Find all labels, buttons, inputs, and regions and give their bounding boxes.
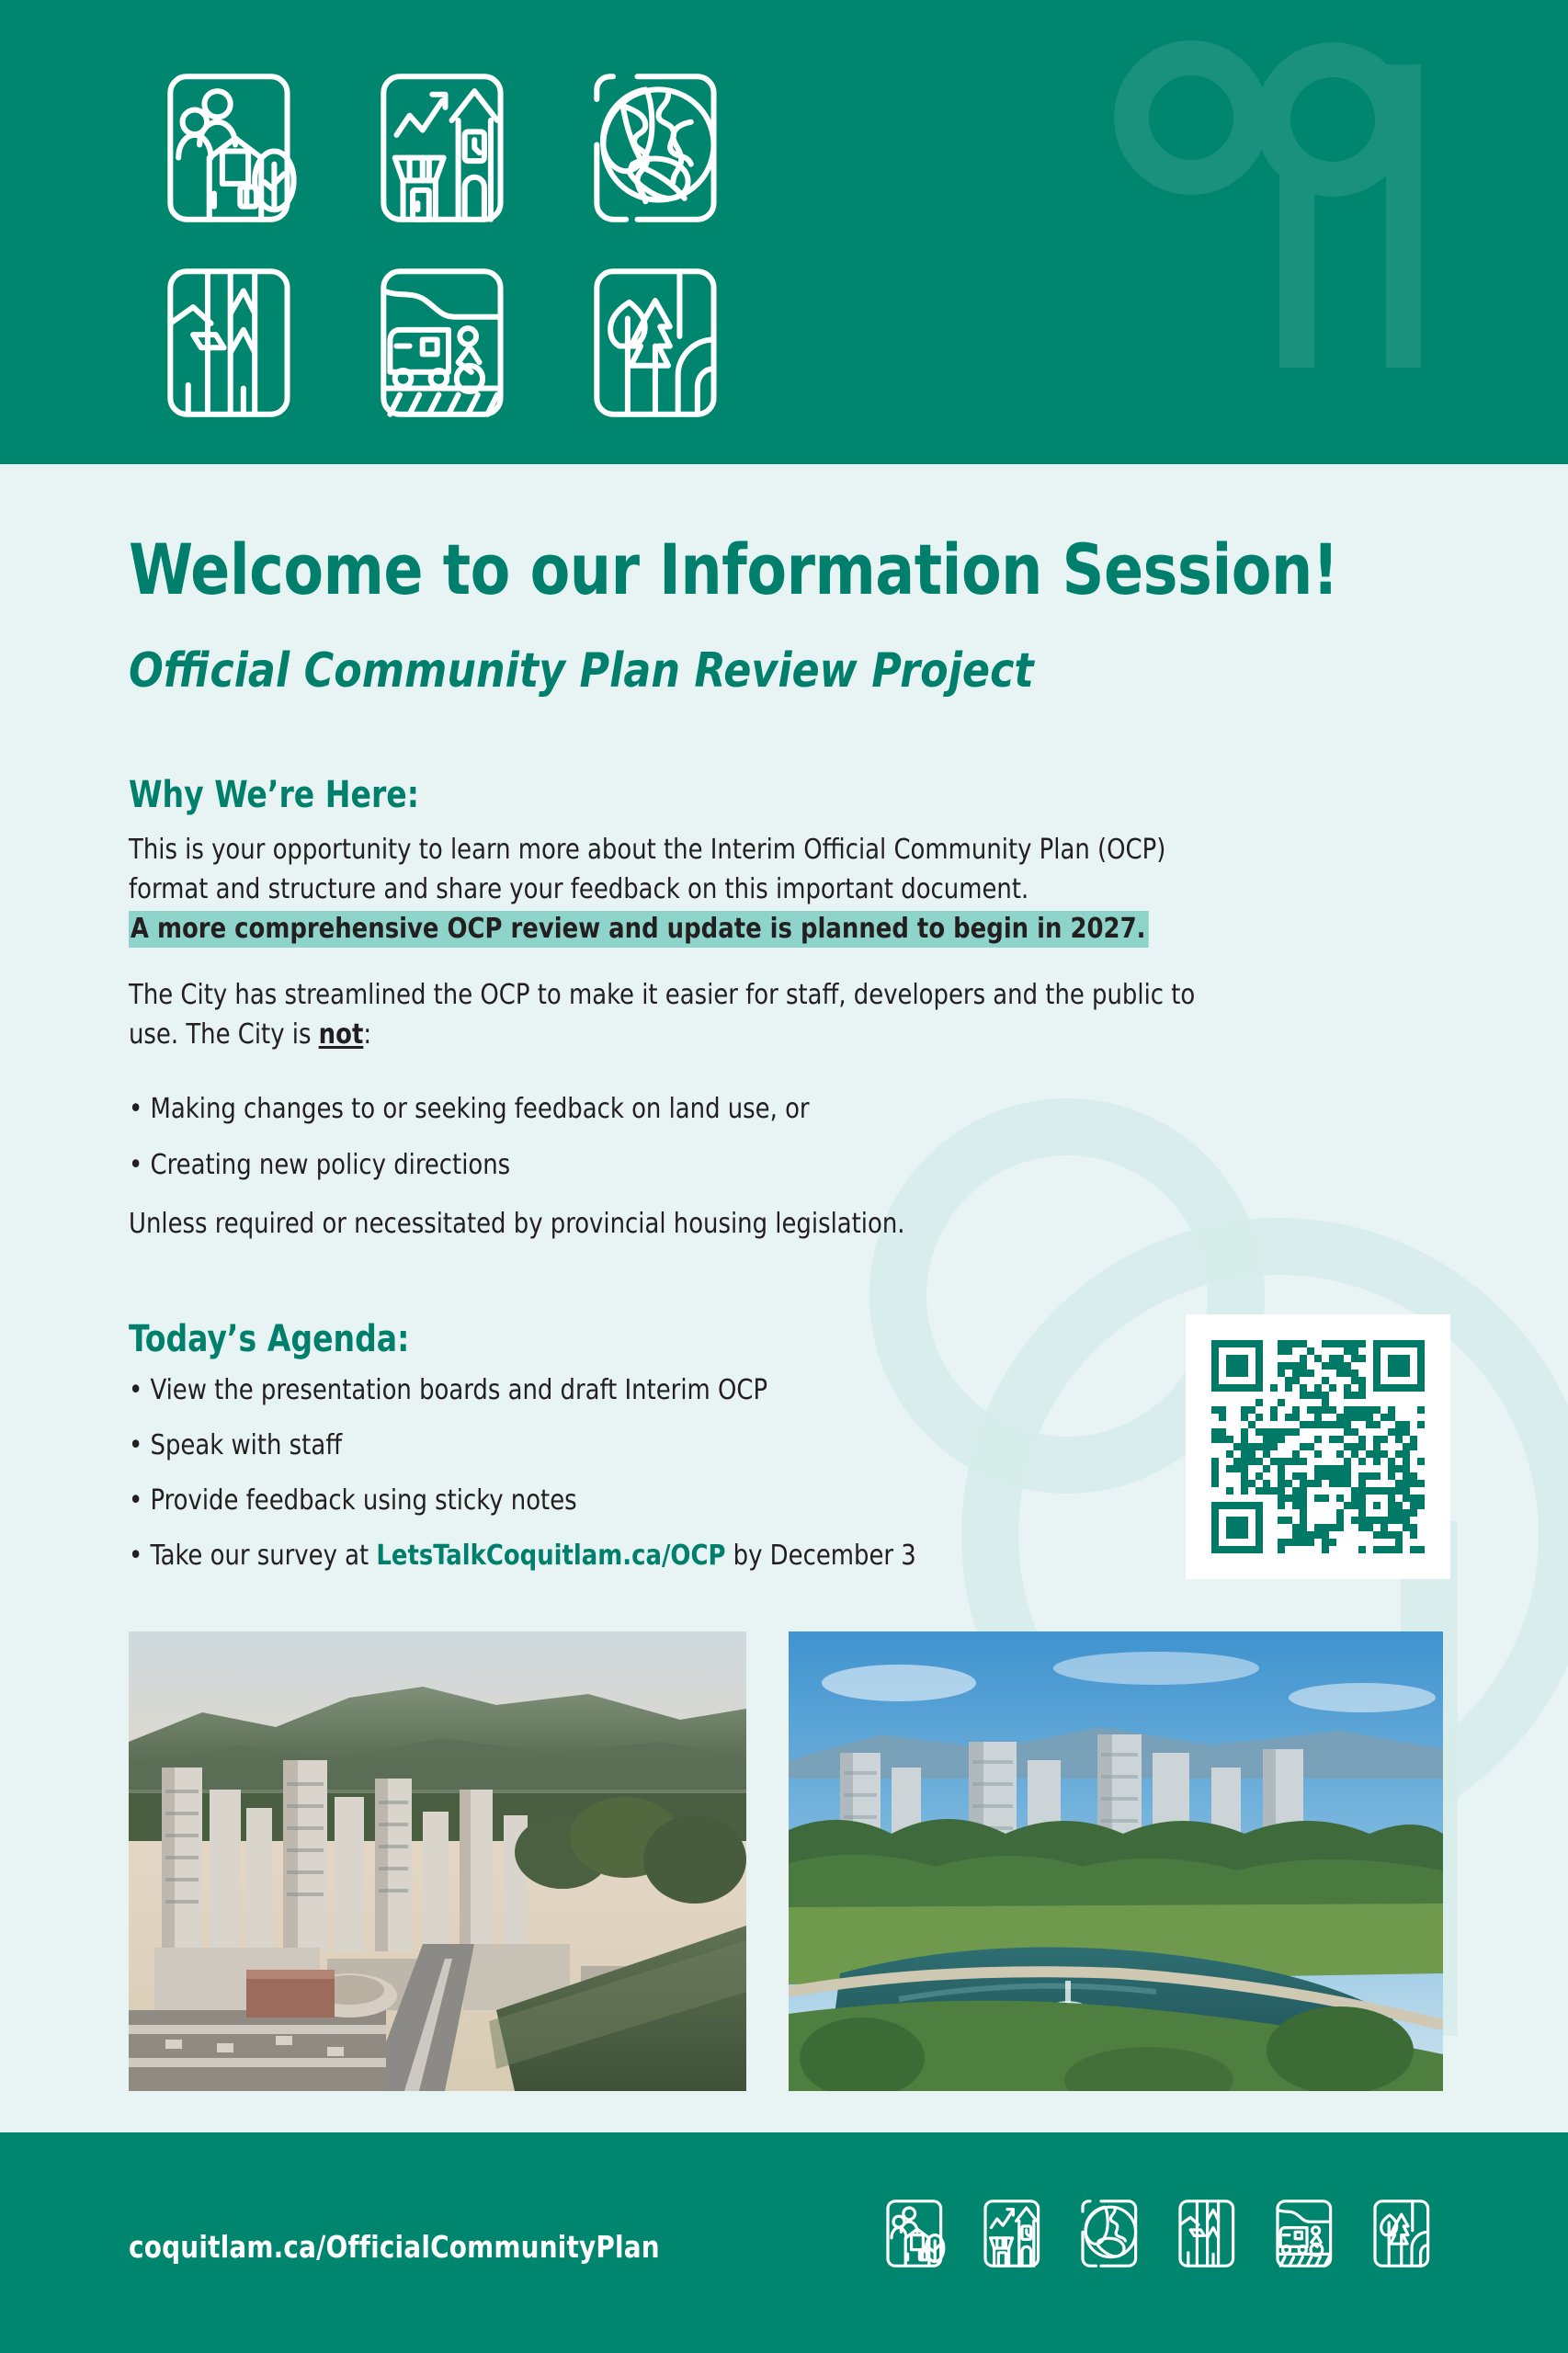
- list-item: • Provide feedback using sticky notes: [129, 1481, 1346, 1520]
- why-bullet-list: • Making changes to or seeking feedback …: [129, 1089, 1346, 1201]
- why-closing-text: Unless required or necessitated by provi…: [129, 1204, 1346, 1244]
- survey-suffix: by December 3: [725, 1540, 915, 1572]
- transit-bus-cyclist-icon: [342, 245, 555, 440]
- map-roads-icon: [1165, 2189, 1254, 2278]
- poster: Welcome to our Information Session! Offi…: [0, 0, 1568, 2353]
- ocp-watermark: [1083, 9, 1469, 414]
- shop-clocktower-growth-icon: [971, 2189, 1059, 2278]
- agenda-heading: Today’s Agenda:: [129, 1317, 409, 1361]
- shop-clocktower-growth-icon: [342, 51, 555, 245]
- page-title: Welcome to our Information Session!: [129, 530, 1338, 609]
- globe-leaves-icon: [555, 51, 768, 245]
- page-subtitle: Official Community Plan Review Project: [129, 643, 1034, 699]
- footer-icon-row: [873, 2189, 1449, 2278]
- header-band: [0, 0, 1568, 464]
- content-area: Welcome to our Information Session! Offi…: [0, 464, 1568, 2132]
- list-item: • Speak with staff: [129, 1426, 1346, 1465]
- forest-trees-trail-icon: [1360, 2189, 1449, 2278]
- why-para-line-1: This is your opportunity to learn more a…: [129, 830, 1346, 870]
- emphasis-not: not: [319, 1018, 364, 1051]
- survey-prefix: • Take our survey at: [129, 1540, 376, 1572]
- survey-link[interactable]: LetsTalkCoquitlam.ca/OCP: [376, 1540, 725, 1572]
- aerial-lafarge-lake-photo: [789, 1631, 1443, 2091]
- forest-trees-trail-icon: [555, 245, 768, 440]
- list-item: • Making changes to or seeking feedback …: [129, 1089, 1346, 1129]
- globe-leaves-icon: [1068, 2189, 1156, 2278]
- list-item-survey: • Take our survey at LetsTalkCoquitlam.c…: [129, 1536, 1346, 1575]
- why-heading: Why We’re Here:: [129, 773, 419, 817]
- agenda-bullet-list: • View the presentation boards and draft…: [129, 1370, 1346, 1591]
- people-home-tree-icon: [129, 51, 342, 245]
- why-para2-line-2-post: :: [363, 1018, 371, 1051]
- list-item: • View the presentation boards and draft…: [129, 1370, 1346, 1410]
- why-para-line-2: format and structure and share your feed…: [129, 870, 1346, 909]
- qr-code-survey[interactable]: [1211, 1340, 1425, 1553]
- why-paragraph-1: This is your opportunity to learn more a…: [129, 830, 1346, 949]
- footer-url[interactable]: coquitlam.ca/OfficialCommunityPlan: [129, 2229, 660, 2265]
- transit-bus-cyclist-icon: [1263, 2189, 1351, 2278]
- people-home-tree-icon: [873, 2189, 961, 2278]
- header-icon-grid: [129, 51, 768, 440]
- map-roads-icon: [129, 245, 342, 440]
- why-para2-line-1: The City has streamlined the OCP to make…: [129, 975, 1346, 1015]
- aerial-city-highrise-photo: [129, 1631, 746, 2091]
- why-paragraph-2: The City has streamlined the OCP to make…: [129, 975, 1346, 1054]
- why-para2-line-2-pre: use. The City is: [129, 1018, 319, 1051]
- qr-code-panel: [1186, 1314, 1450, 1579]
- footer-band: coquitlam.ca/OfficialCommunityPlan: [0, 2132, 1568, 2353]
- list-item: • Creating new policy directions: [129, 1145, 1346, 1185]
- highlighted-note: A more comprehensive OCP review and upda…: [129, 911, 1148, 948]
